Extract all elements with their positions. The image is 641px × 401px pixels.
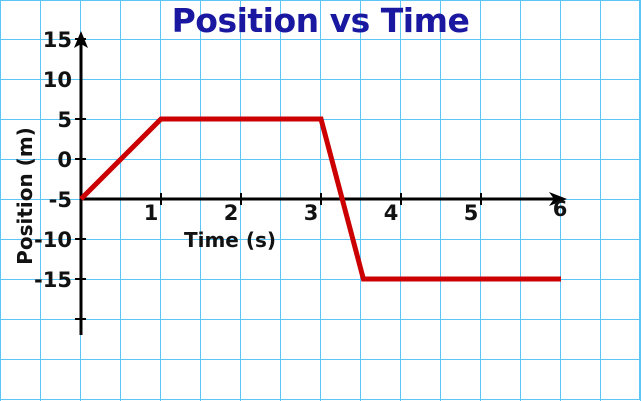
chart-canvas: Position vs Time: [0, 0, 641, 401]
y-tick-label-15: 15: [28, 28, 72, 52]
x-tick-label-4: 4: [376, 201, 406, 225]
y-axis: [74, 31, 88, 335]
x-axis-title: Time (s): [160, 228, 300, 252]
y-axis-title: Position (m): [13, 126, 37, 266]
x-tick-label-1: 1: [136, 201, 166, 225]
x-tick-label-2: 2: [216, 201, 246, 225]
x-tick-label-6: 6: [545, 197, 575, 221]
y-tick-label-10: 10: [28, 68, 72, 92]
x-tick-label-3: 3: [296, 201, 326, 225]
y-tick-label-neg15: -15: [28, 268, 72, 292]
x-tick-label-5: 5: [456, 201, 486, 225]
